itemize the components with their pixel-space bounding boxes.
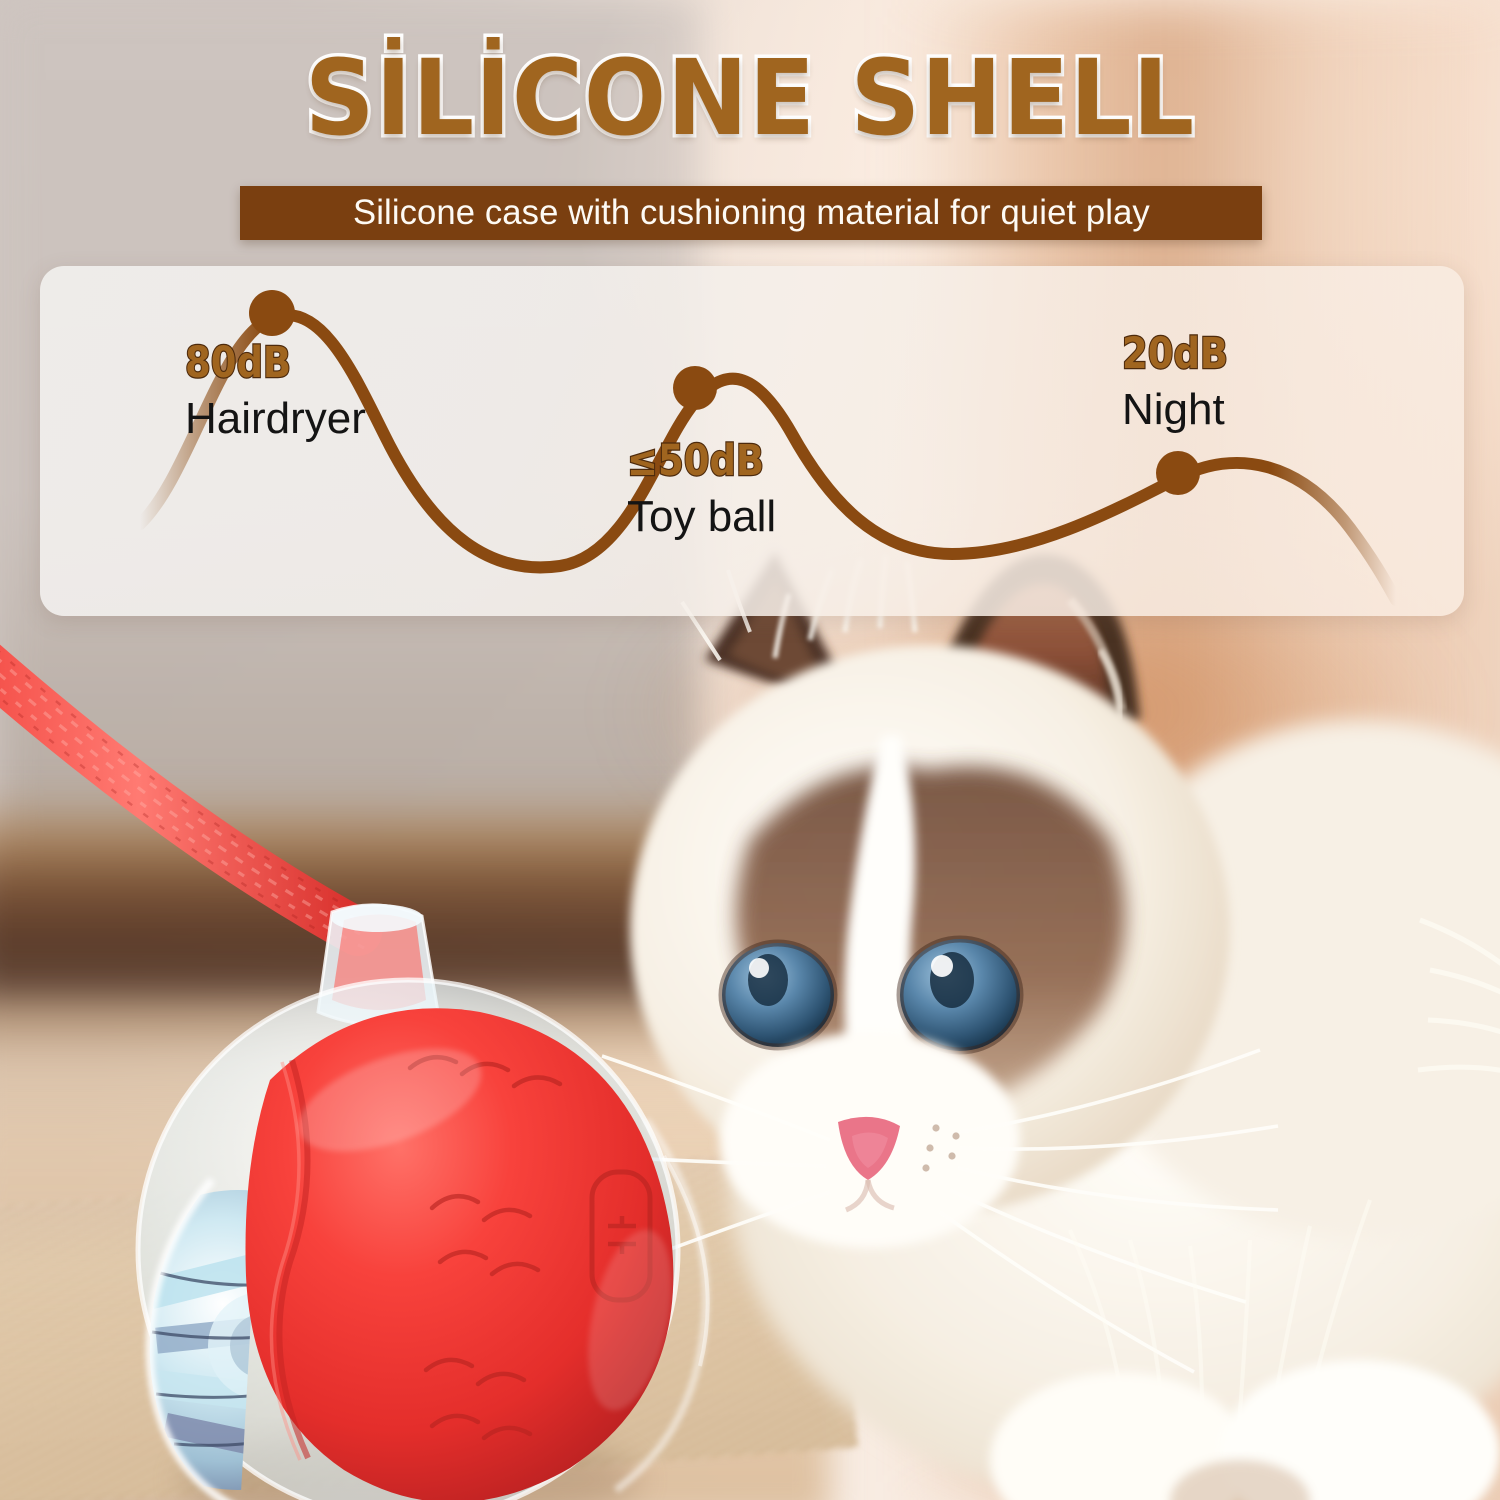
db-label-night: 20dB Night	[1122, 333, 1245, 432]
db-value-night: 20dB	[1122, 333, 1228, 376]
toy-ball-product	[0, 560, 820, 1500]
db-name-toyball: Toy ball	[627, 495, 786, 539]
page-title: SİLİCONE SHELL	[53, 46, 1448, 150]
db-label-hairdryer: 80dB Hairdryer	[185, 342, 366, 441]
db-name-night: Night	[1122, 388, 1245, 432]
wave-marker-toyball	[673, 366, 717, 410]
subtitle-banner: Silicone case with cushioning material f…	[240, 186, 1262, 240]
db-value-hairdryer: 80dB	[185, 342, 341, 385]
wave-marker-night	[1156, 451, 1200, 495]
db-label-toyball: ≤50dB Toy ball	[627, 440, 786, 539]
wave-marker-hairdryer	[249, 290, 295, 336]
page-title-text: SİLİCONE SHELL	[305, 37, 1195, 159]
product-marketing-image: 80dB Hairdryer ≤50dB Toy ball 20dB Night…	[0, 0, 1500, 1500]
db-name-hairdryer: Hairdryer	[185, 397, 366, 441]
db-value-toyball: ≤50dB	[627, 440, 764, 483]
subtitle-text: Silicone case with cushioning material f…	[353, 193, 1150, 233]
